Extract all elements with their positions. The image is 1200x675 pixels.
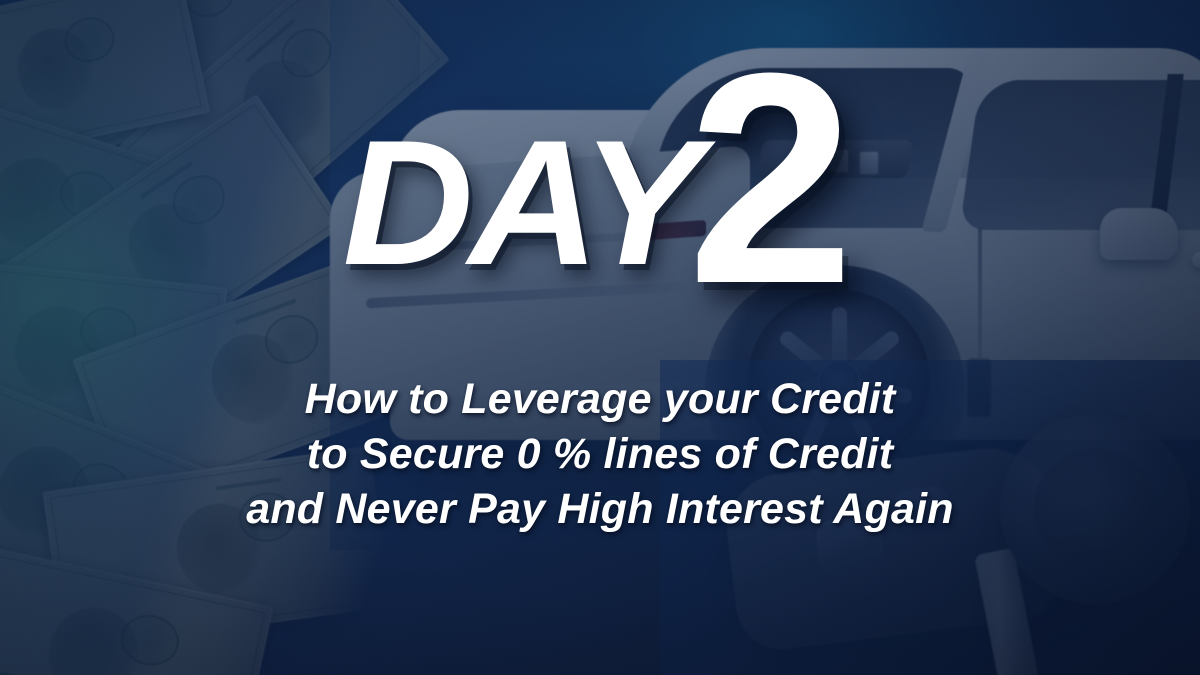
vignette-overlay: [0, 0, 1200, 675]
promo-slide: DAY 2 How to Leverage your Credit to Sec…: [0, 0, 1200, 675]
